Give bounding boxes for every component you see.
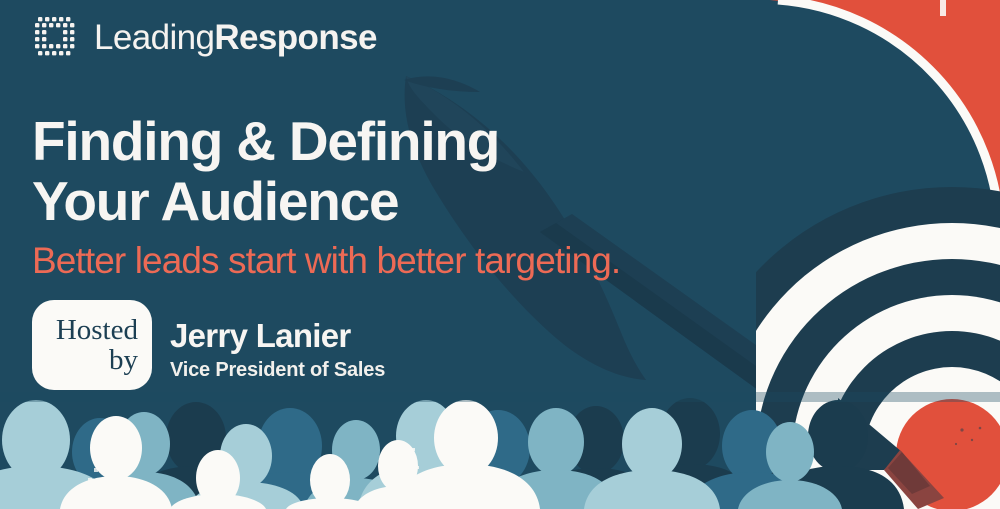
host-details: Jerry Lanier Vice President of Sales <box>170 300 385 383</box>
title-line-1: Finding & Defining <box>32 112 792 172</box>
webinar-title-slide: LeadingResponse Finding & Defining Your … <box>0 0 1000 509</box>
dotted-square-logo-icon <box>32 14 78 60</box>
host-name: Jerry Lanier <box>170 318 385 354</box>
page-title: Finding & Defining Your Audience <box>32 112 792 232</box>
hosted-by-line-1: Hosted <box>56 316 138 346</box>
title-line-2: Your Audience <box>32 172 792 232</box>
brand-logo[interactable]: LeadingResponse <box>32 14 377 60</box>
brand-name-light: Leading <box>94 18 214 57</box>
hosted-by-badge: Hosted by <box>32 300 152 390</box>
host-block: Hosted by Jerry Lanier Vice President of… <box>32 300 385 390</box>
hosted-by-line-2: by <box>109 346 138 376</box>
page-subtitle: Better leads start with better targeting… <box>32 242 620 279</box>
host-job-title: Vice President of Sales <box>170 357 385 383</box>
brand-wordmark: LeadingResponse <box>94 20 377 55</box>
brand-name-bold: Response <box>214 18 376 57</box>
